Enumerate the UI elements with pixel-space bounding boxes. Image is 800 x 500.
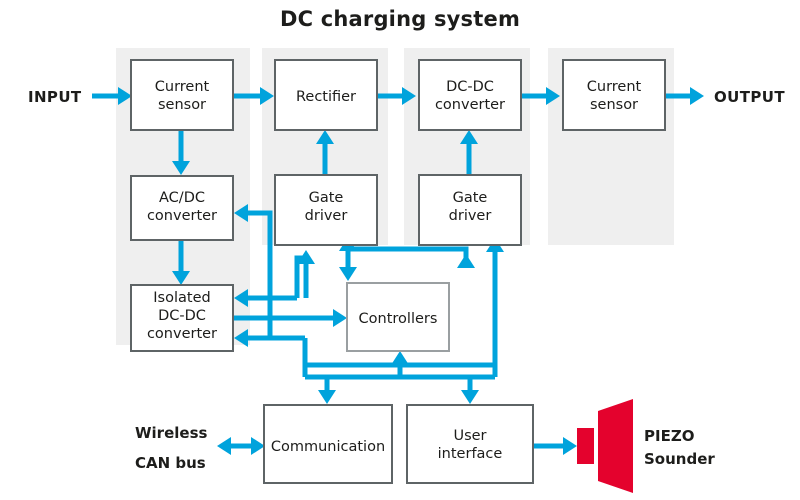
block-current-sensor-input[interactable]: Current sensor: [131, 60, 233, 130]
block-label-line2: driver: [305, 208, 348, 224]
block-label-line2: DC-DC: [158, 308, 206, 324]
piezo-label-line2: Sounder: [644, 450, 715, 468]
block-label-line1: DC-DC: [446, 79, 494, 95]
block-gate-driver-dcdc[interactable]: Gate driver: [419, 175, 521, 245]
block-label-line1: User: [453, 428, 486, 444]
wire-user-interface-to-piezo: [533, 437, 577, 455]
block-label-line2: interface: [438, 446, 503, 462]
can-bus-label: CAN bus: [135, 454, 206, 472]
block-label-line2: sensor: [158, 97, 206, 113]
piezo-speaker-icon: [577, 399, 633, 493]
block-label-line3: converter: [147, 326, 217, 342]
block-label-line1: Isolated: [153, 290, 210, 306]
block-dcdc-converter[interactable]: DC-DC converter: [419, 60, 521, 130]
piezo-label-line1: PIEZO: [644, 427, 694, 445]
dc-charging-system-diagram: DC charging system: [0, 0, 800, 500]
block-user-interface[interactable]: User interface: [407, 405, 533, 483]
diagram-canvas: DC charging system: [0, 0, 800, 500]
block-current-sensor-output[interactable]: Current sensor: [563, 60, 665, 130]
block-communication[interactable]: Communication: [264, 405, 392, 483]
block-label-line1: AC/DC: [159, 190, 205, 206]
page-title: DC charging system: [280, 7, 520, 31]
block-label-line1: Controllers: [359, 311, 438, 327]
wire-isolated-dcdc-to-controllers: [233, 309, 347, 327]
wire-bus-to-user-interface: [461, 377, 479, 404]
block-label-line1: Current: [587, 79, 642, 95]
block-gate-driver-rectifier[interactable]: Gate driver: [275, 175, 377, 245]
block-label-line1: Gate: [453, 190, 488, 206]
block-label-line2: converter: [435, 97, 505, 113]
wire-bus-to-communication: [318, 377, 336, 404]
block-isolated-dcdc-converter[interactable]: Isolated DC-DC converter: [131, 285, 233, 351]
block-label-line1: Current: [155, 79, 210, 95]
wire-right-riser-to-gate-driver-dcdc: [486, 238, 504, 377]
block-label-line2: sensor: [590, 97, 638, 113]
input-label: INPUT: [28, 88, 82, 106]
wire-canbus-to-communication: [217, 437, 265, 455]
block-label-line1: Rectifier: [296, 89, 356, 105]
output-label: OUTPUT: [714, 88, 785, 106]
block-acdc-converter[interactable]: AC/DC converter: [131, 176, 233, 240]
block-rectifier[interactable]: Rectifier: [275, 60, 377, 130]
block-label-line1: Gate: [309, 190, 344, 206]
block-label-line1: Communication: [271, 439, 385, 455]
block-label-line2: driver: [449, 208, 492, 224]
wireless-label: Wireless: [135, 424, 208, 442]
block-label-line2: converter: [147, 208, 217, 224]
block-controllers[interactable]: Controllers: [347, 283, 449, 351]
